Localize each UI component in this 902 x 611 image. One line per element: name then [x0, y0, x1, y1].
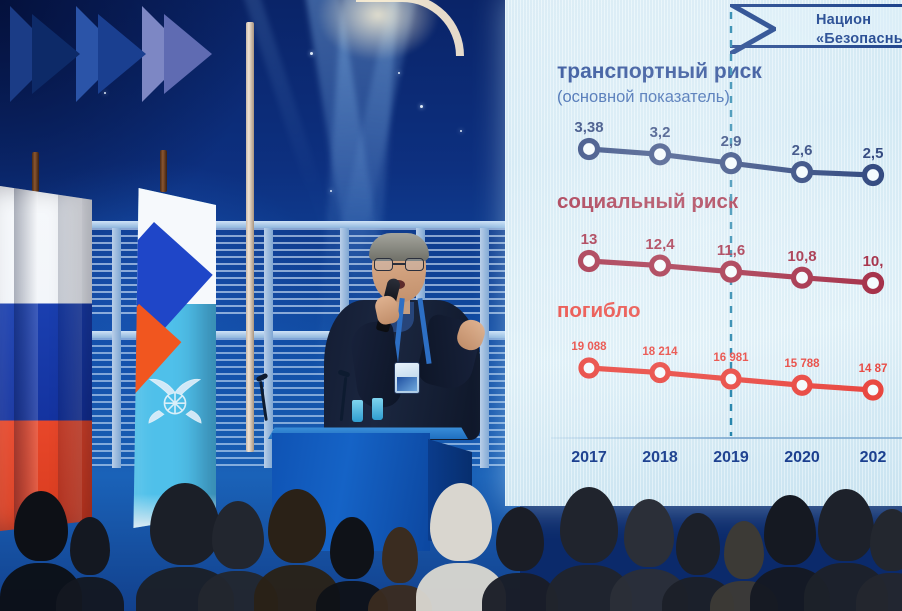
data-point-label: 16 981 — [713, 352, 748, 364]
street-lamp-glow — [318, 0, 438, 60]
audience-member-head — [382, 527, 418, 583]
x-axis-tick-label: 202 — [860, 449, 887, 467]
x-axis-tick-label: 2020 — [784, 449, 820, 467]
sparkle — [398, 72, 400, 74]
eyeglasses — [374, 258, 424, 271]
railing-post — [112, 228, 121, 468]
water-bottle — [352, 400, 363, 422]
transport-emblem-icon — [144, 367, 206, 429]
audience-member-head — [212, 501, 264, 569]
audience-member-head — [560, 487, 618, 563]
audience-member-head — [870, 509, 902, 571]
audience-member-head — [624, 499, 674, 567]
projection-screen: Национ «Безопасные к транспортный риск (… — [505, 0, 902, 506]
data-point-label: 15 788 — [784, 358, 819, 370]
audience-member-head — [676, 513, 720, 575]
data-point-label: 11,6 — [717, 242, 745, 259]
conference-badge — [394, 362, 420, 394]
chevron-inner-icon — [98, 14, 146, 94]
conference-photo: Национ «Безопасные к транспортный риск (… — [0, 0, 902, 611]
audience-silhouettes — [0, 471, 902, 611]
audience-member-head — [496, 507, 544, 571]
audience-member-head — [430, 483, 492, 561]
data-point-label: 10, — [863, 253, 884, 270]
street-lamp-pole — [246, 22, 254, 452]
sparkle — [330, 190, 332, 192]
x-axis-tick-label: 2019 — [713, 449, 749, 467]
audience-member-head — [764, 495, 816, 565]
data-point-label: 12,4 — [645, 236, 674, 253]
sparkle — [460, 130, 462, 132]
data-point-label: 14 87 — [859, 363, 888, 375]
audience-member-head — [150, 483, 220, 565]
chevron-inner-icon — [32, 14, 80, 94]
data-point-label: 3,38 — [574, 119, 603, 136]
audience-member-head — [818, 489, 874, 561]
x-axis-line — [551, 437, 902, 439]
chevron-inner-icon — [164, 14, 212, 94]
x-axis-tick-label: 2017 — [571, 449, 607, 467]
audience-member-head — [14, 491, 68, 561]
x-axis-tick-label: 2018 — [642, 449, 678, 467]
chart-labels-layer: 3,383,22,92,62,51312,411,610,810,19 0881… — [505, 0, 902, 506]
sparkle — [420, 105, 423, 108]
data-point-label: 2,9 — [721, 133, 742, 150]
data-point-label: 3,2 — [650, 124, 671, 141]
water-bottle — [372, 398, 383, 420]
audience-member-head — [724, 521, 764, 579]
sparkle — [310, 52, 313, 55]
presenter-hair — [369, 233, 429, 261]
audience-member-head — [330, 517, 374, 579]
three-chevrons-logo — [10, 6, 225, 102]
audience-member-head — [70, 517, 110, 575]
audience-member-head — [268, 489, 326, 563]
data-point-label: 2,6 — [792, 142, 813, 159]
data-point-label: 2,5 — [863, 145, 884, 162]
data-point-label: 10,8 — [787, 248, 816, 265]
data-point-label: 13 — [581, 231, 598, 248]
data-point-label: 19 088 — [571, 341, 606, 353]
data-point-label: 18 214 — [642, 346, 677, 358]
